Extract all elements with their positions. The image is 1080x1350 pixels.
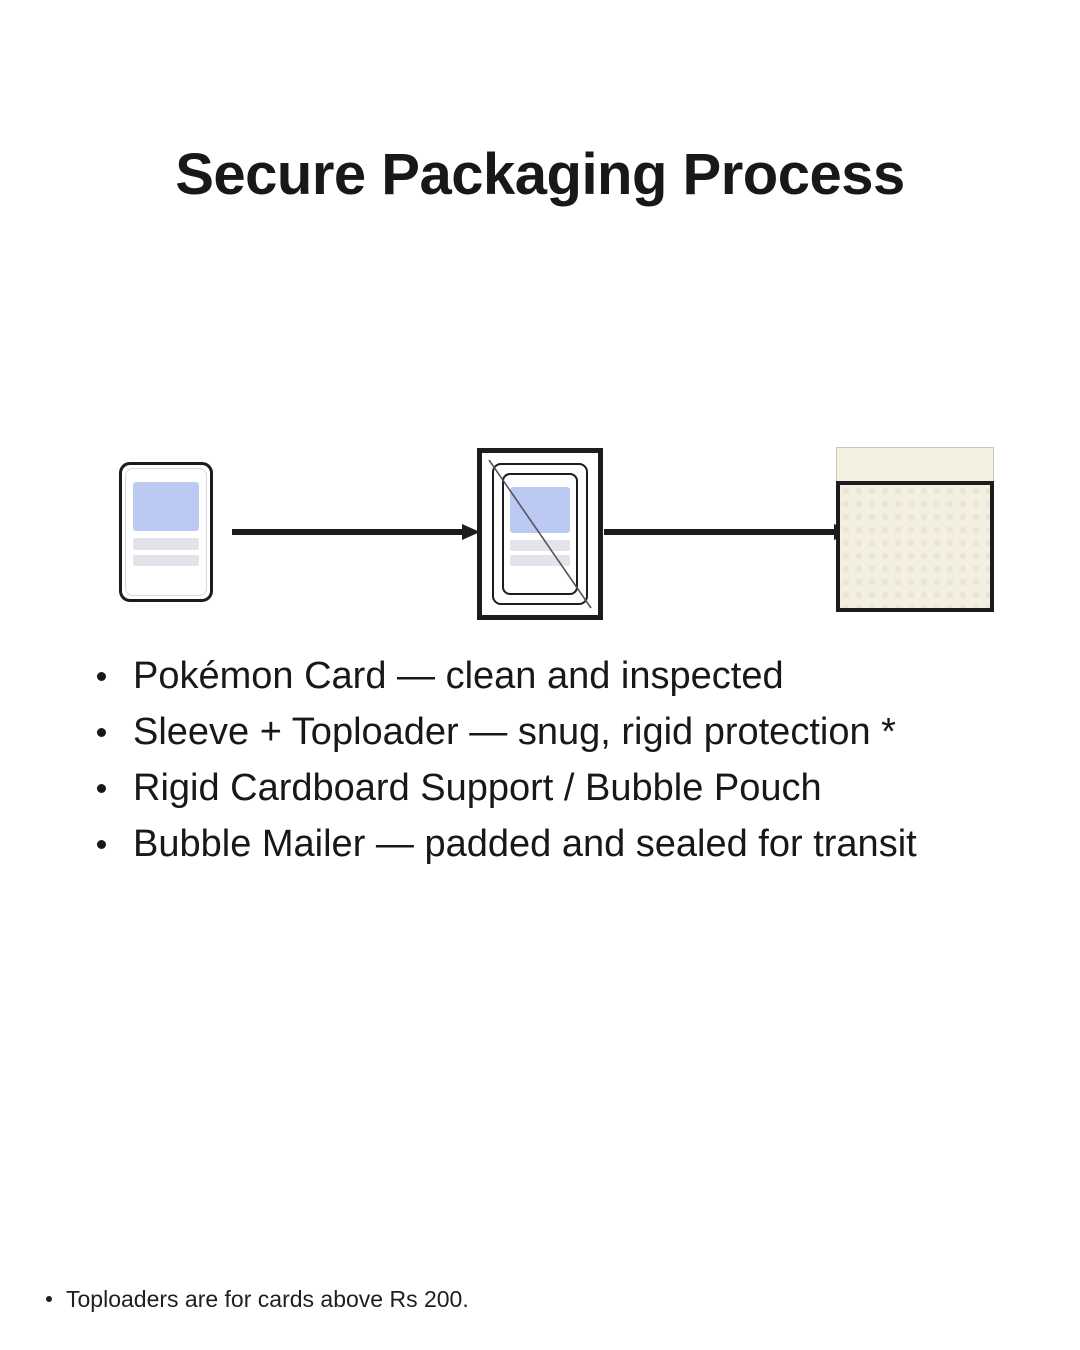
card-text-line (133, 538, 199, 549)
page-title: Secure Packaging Process (0, 143, 1080, 207)
card-inner-face (502, 473, 578, 595)
card-text-line (510, 540, 569, 551)
card-inner-face (125, 468, 207, 596)
list-item: Sleeve + Toploader — snug, rigid protect… (88, 704, 1048, 760)
footnote-item: Toploaders are for cards above Rs 200. (34, 1282, 934, 1316)
bullet-dot-icon (97, 672, 106, 681)
list-item-label: Rigid Cardboard Support / Bubble Pouch (133, 767, 822, 809)
list-item-label: Sleeve + Toploader — snug, rigid protect… (133, 711, 896, 753)
bubble-wrap-texture (840, 485, 990, 608)
bullet-dot-icon (46, 1296, 52, 1302)
packaging-process-diagram (0, 430, 1080, 630)
arrow-right-icon (604, 520, 852, 544)
list-item: Rigid Cardboard Support / Bubble Pouch (88, 760, 1048, 816)
bubble-mailer-icon (836, 447, 994, 612)
card-artwork-block (510, 487, 569, 533)
bullet-dot-icon (97, 840, 106, 849)
card-artwork-block (133, 482, 199, 531)
list-item: Pokémon Card — clean and inspected (88, 648, 1048, 704)
packaging-steps-list: Pokémon Card — clean and inspected Sleev… (88, 648, 1048, 872)
list-item: Bubble Mailer — padded and sealed for tr… (88, 816, 1048, 872)
footnote-list: Toploaders are for cards above Rs 200. (34, 1282, 934, 1316)
toploader-shell (477, 448, 603, 620)
footnote-label: Toploaders are for cards above Rs 200. (66, 1286, 469, 1312)
list-item-label: Bubble Mailer — padded and sealed for tr… (133, 823, 917, 865)
bullet-dot-icon (97, 784, 106, 793)
bullet-dot-icon (97, 728, 106, 737)
list-item-label: Pokémon Card — clean and inspected (133, 655, 784, 697)
card-text-line (133, 555, 199, 566)
card-sleeve (492, 463, 588, 605)
trading-card-icon (119, 462, 213, 602)
mailer-body (836, 481, 994, 612)
arrow-right-icon (232, 520, 480, 544)
card-text-line (510, 555, 569, 566)
mailer-flap (836, 447, 994, 483)
sleeved-toploader-icon (477, 448, 603, 620)
